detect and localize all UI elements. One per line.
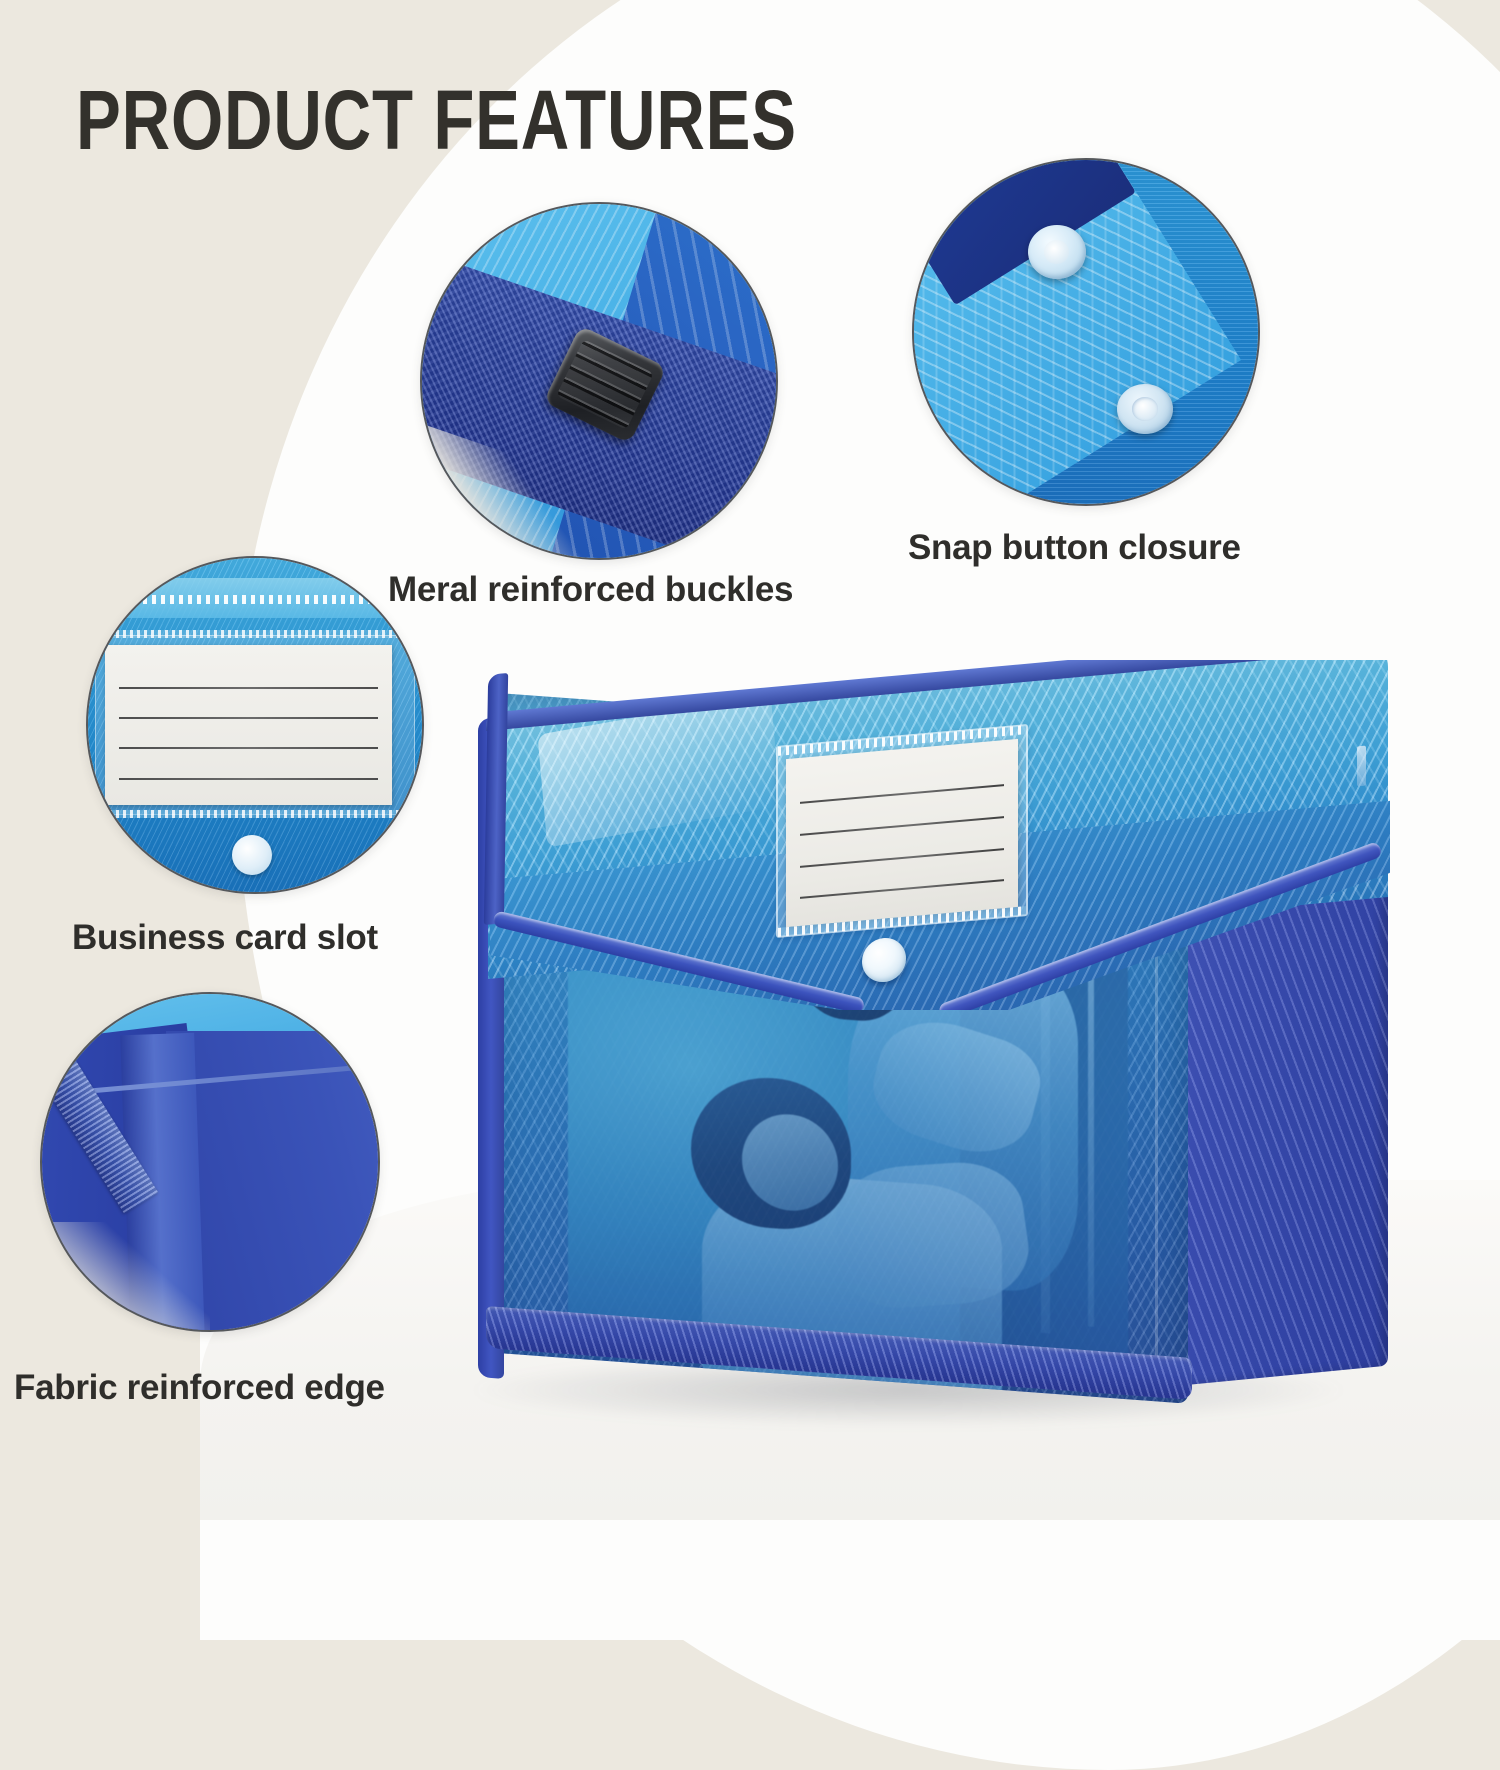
- snap-button-detail-photo: [912, 158, 1260, 506]
- feature-label-fabric-edge: Fabric reinforced edge: [14, 1368, 385, 1408]
- product-photo-file-envelope: [470, 660, 1390, 1420]
- feature-label-metal-buckles: Meral reinforced buckles: [388, 570, 793, 610]
- label-holder-pocket: [776, 724, 1028, 938]
- envelope-flap: [480, 660, 1410, 1010]
- snap-button-stud-icon: [1117, 384, 1173, 434]
- callout-corner-shadow: [40, 1222, 210, 1332]
- snap-button-icon: [232, 835, 272, 875]
- stitch-line-bottom: [86, 810, 424, 818]
- label-card: [786, 739, 1018, 927]
- fabric-edge-detail-photo: [40, 992, 380, 1332]
- feature-label-business-card-slot: Business card slot: [72, 918, 378, 958]
- highlight-speckles: [86, 595, 424, 604]
- snap-button-socket-icon: [1028, 225, 1086, 279]
- infographic-canvas: PRODUCT FEATURES: [0, 0, 1500, 1500]
- business-card: [105, 645, 392, 805]
- business-card-slot-detail-photo: [86, 556, 424, 894]
- page-title: PRODUCT FEATURES: [76, 72, 797, 169]
- flap-side-tab: [1357, 746, 1366, 787]
- buckle-detail-photo: [420, 202, 778, 560]
- feature-label-snap-button: Snap button closure: [908, 528, 1241, 568]
